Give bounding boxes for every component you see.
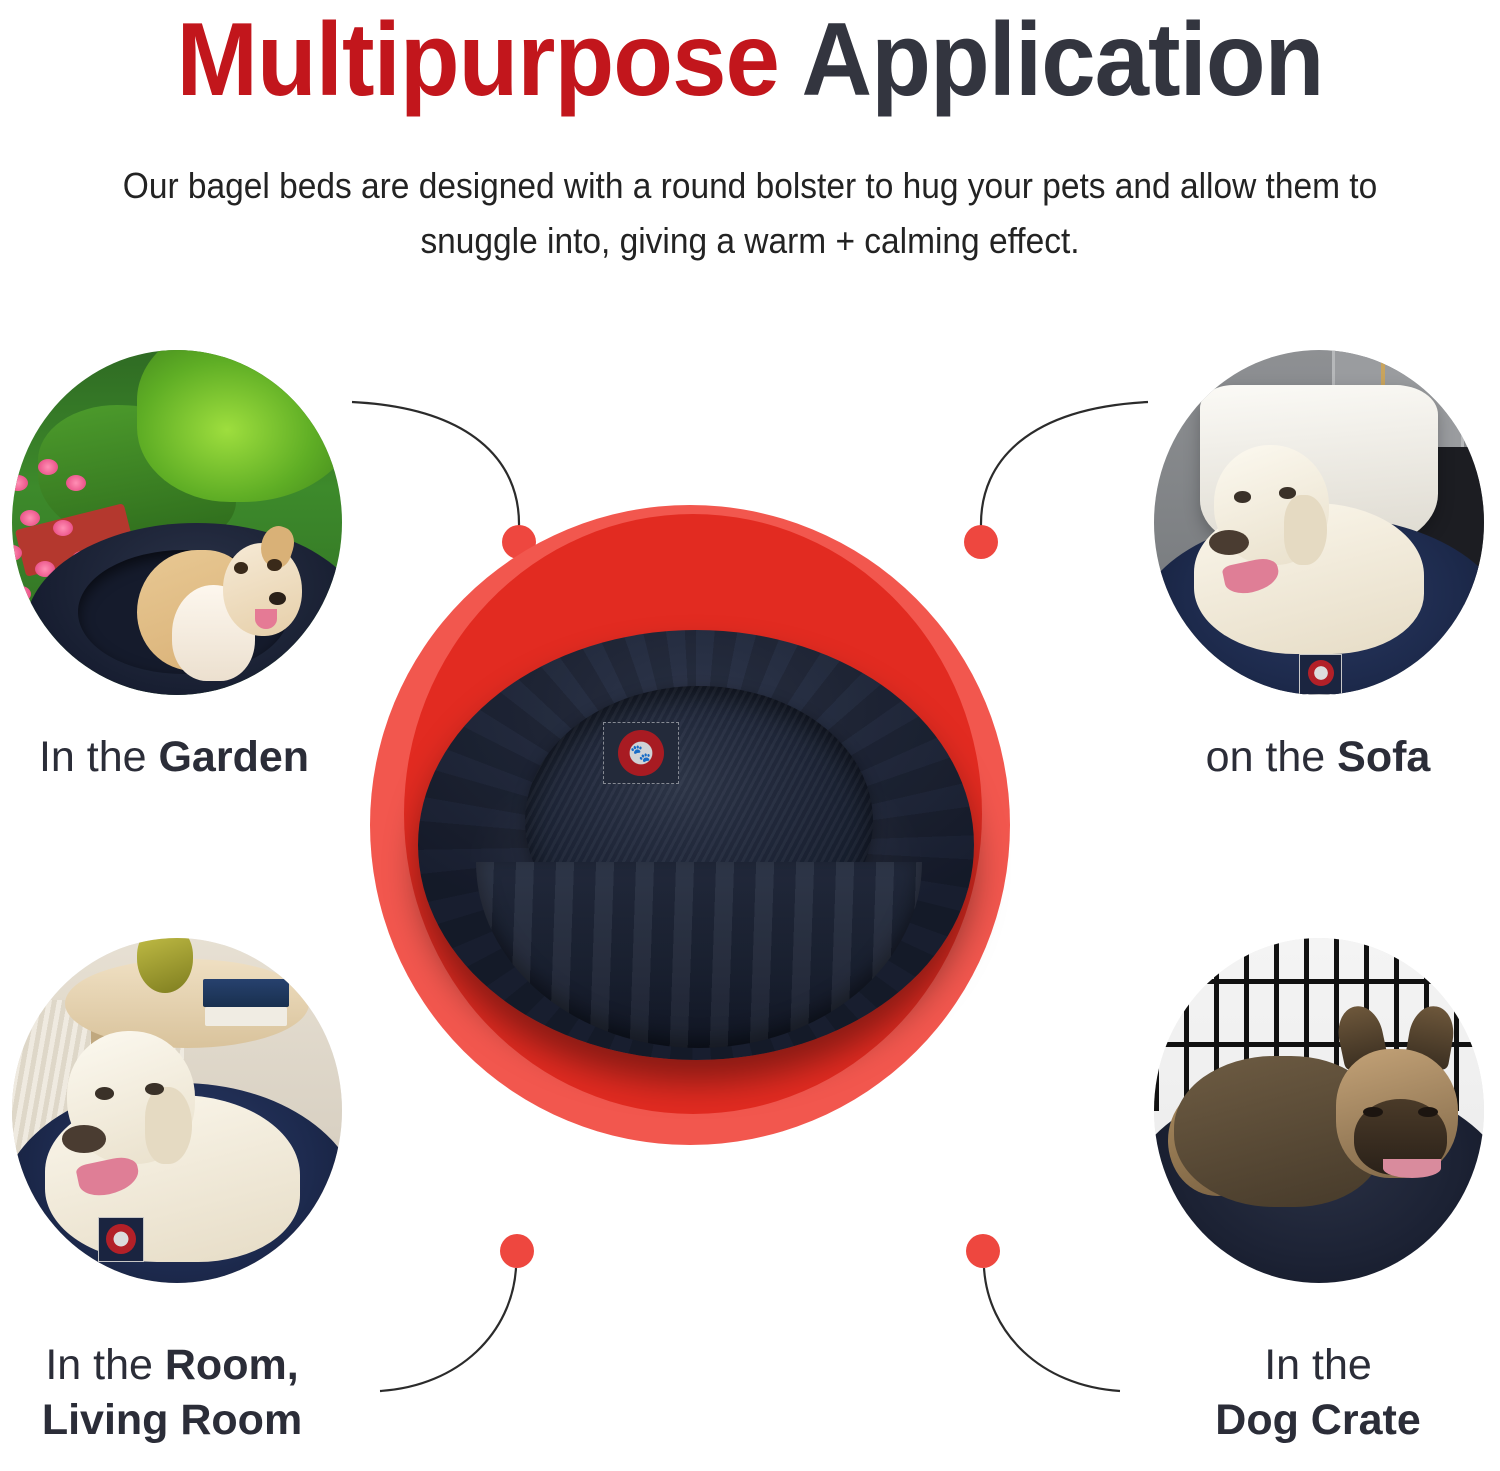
- living-room-dog: [45, 1048, 322, 1262]
- caption-living-room-regular: In the: [45, 1341, 165, 1389]
- illustration-stage: 🐾 In the Garden: [0, 330, 1500, 1471]
- caption-living-room: In the Room, Living Room: [0, 1338, 372, 1448]
- caption-garden-bold: Garden: [158, 733, 309, 781]
- photo-circle-garden[interactable]: [12, 350, 342, 695]
- caption-sofa: on the Sofa: [1118, 730, 1500, 785]
- brand-tag: 🐾: [603, 722, 679, 784]
- photo-circle-dog-crate[interactable]: [1154, 938, 1484, 1283]
- garden-shrub: [137, 350, 342, 502]
- caption-living-room-line1: In the Room,: [0, 1338, 372, 1393]
- photo-circle-sofa[interactable]: [1154, 350, 1484, 695]
- connector-line-garden: [352, 402, 519, 526]
- caption-garden-regular: In the: [39, 733, 159, 781]
- header: Multipurpose Application Our bagel beds …: [0, 0, 1500, 269]
- connector-line-living: [380, 1268, 516, 1391]
- caption-dog-crate-line1: In the: [1118, 1338, 1500, 1393]
- garden-scene: [12, 350, 342, 695]
- caption-living-room-bold2: Living Room: [42, 1396, 302, 1444]
- connector-line-sofa: [981, 402, 1148, 526]
- title-part-application: Application: [802, 2, 1324, 118]
- caption-living-room-bold1: Room,: [165, 1341, 299, 1389]
- sofa-bed-brand-tag: [1299, 654, 1342, 695]
- caption-living-room-line2: Living Room: [0, 1393, 372, 1448]
- connector-dot-crate: [966, 1234, 1000, 1268]
- crate-dog: [1174, 1028, 1464, 1207]
- paw-glyph: 🐾: [630, 745, 651, 762]
- caption-garden: In the Garden: [0, 730, 374, 785]
- page-subtitle: Our bagel beds are designed with a round…: [99, 159, 1401, 268]
- sofa-scene: [1154, 350, 1484, 695]
- living-room-bed-brand-tag: [98, 1217, 144, 1262]
- product-bagel-bed: 🐾: [418, 630, 974, 1080]
- caption-sofa-bold: Sofa: [1337, 733, 1430, 781]
- title-part-multipurpose: Multipurpose: [177, 2, 779, 118]
- garden-dog: [137, 509, 295, 682]
- connector-dot-sofa: [964, 525, 998, 559]
- living-room-scene: [12, 938, 342, 1283]
- photo-circle-living-room[interactable]: [12, 938, 342, 1283]
- dog-crate-scene: [1154, 938, 1484, 1283]
- caption-dog-crate-line2: Dog Crate: [1118, 1393, 1500, 1448]
- caption-sofa-regular: on the: [1206, 733, 1338, 781]
- crate-horizontal-bar-top: [1154, 979, 1484, 984]
- stacked-books: [203, 979, 289, 1007]
- page-title: Multipurpose Application: [45, 6, 1455, 115]
- caption-dog-crate: In the Dog Crate: [1118, 1338, 1500, 1448]
- sofa-dog: [1194, 460, 1445, 653]
- caption-dog-crate-bold: Dog Crate: [1215, 1396, 1420, 1444]
- paw-print-icon: 🐾: [618, 730, 664, 776]
- connector-dot-living: [500, 1234, 534, 1268]
- connector-line-crate: [984, 1268, 1120, 1391]
